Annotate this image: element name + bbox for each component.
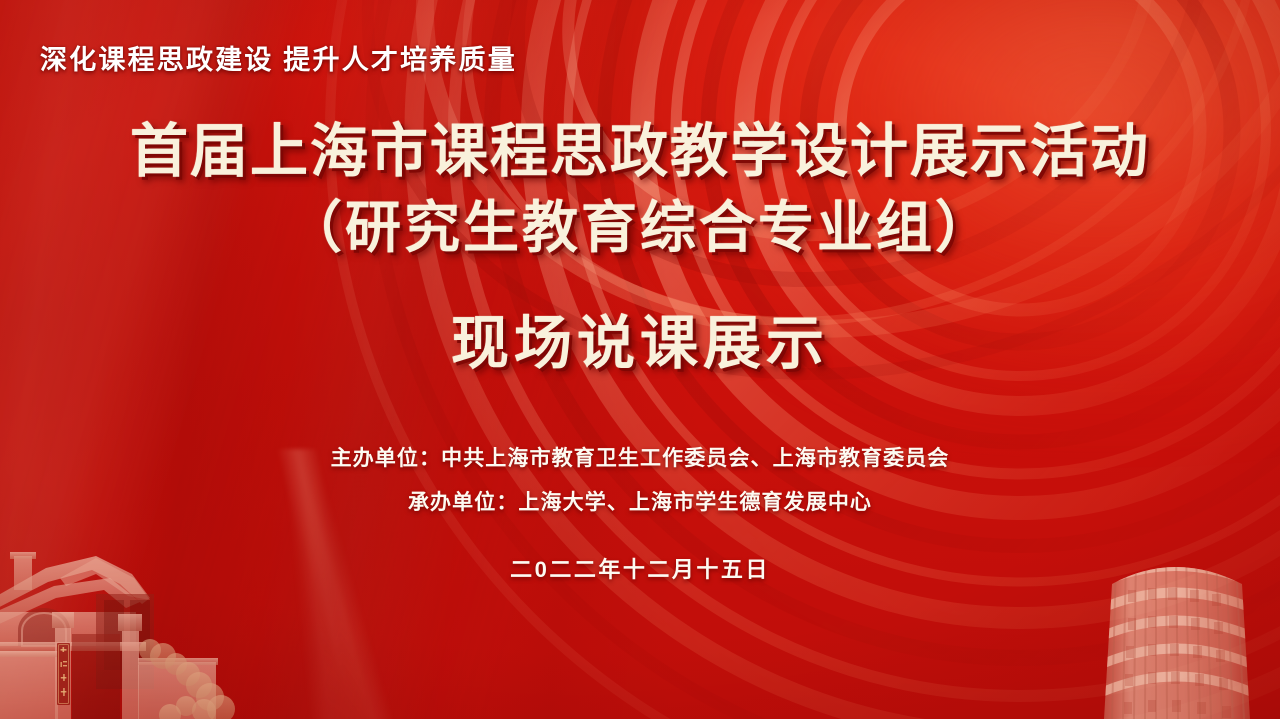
credits-block: 主办单位：中共上海市教育卫生工作委员会、上海市教育委员会 承办单位：上海大学、上… [0,448,1280,513]
organizer-line: 主办单位：中共上海市教育卫生工作委员会、上海市教育委员会 [0,448,1280,469]
title-line-1: 首届上海市课程思政教学设计展示活动 [0,120,1280,185]
title-line-3: 现场说课展示 [0,312,1280,377]
top-slogan: 深化课程思政建设 提升人才培养质量 [40,38,517,77]
co-organizer-line: 承办单位：上海大学、上海市学生德育发展中心 [0,492,1280,513]
title-line-2: （研究生教育综合专业组） [0,197,1280,260]
poster-slide: 深化课程思政建设 提升人才培养质量 首届上海市课程思政教学设计展示活动 （研究生… [0,0,1280,719]
event-date: 二0二二年十二月十五日 [0,552,1280,584]
title-block: 首届上海市课程思政教学设计展示活动 （研究生教育综合专业组） 现场说课展示 [0,120,1280,377]
